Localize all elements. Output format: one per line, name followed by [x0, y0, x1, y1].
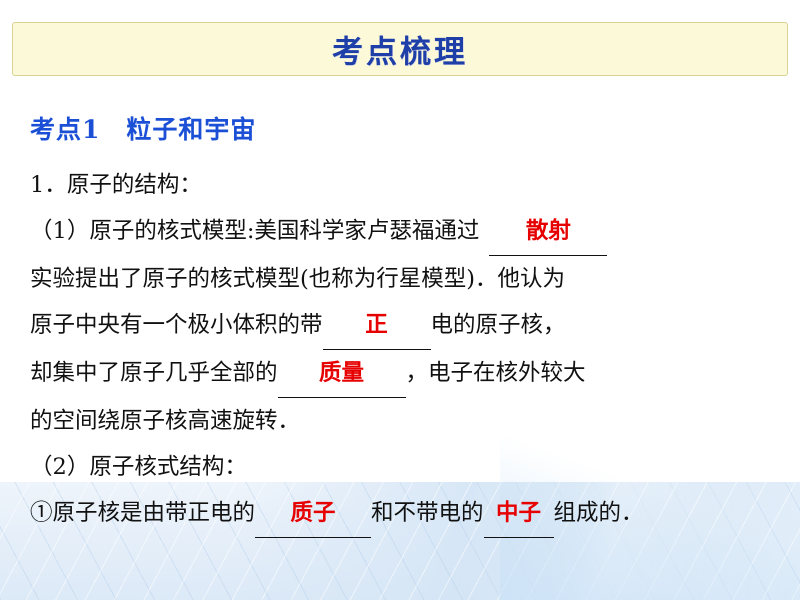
section-heading: 考点1粒子和宇宙	[30, 110, 780, 146]
answer-blank-zhizi: 质子	[255, 490, 371, 538]
paragraph-line-4: 却集中了原子几乎全部的质量，电子在核外较大	[30, 350, 780, 398]
slide-content: 考点1粒子和宇宙 1．原子的结构： （1）原子的核式模型:美国科学家卢瑟福通过散…	[30, 110, 780, 538]
line-3-text-b: 电的原子核，	[431, 312, 566, 338]
line-1-text-a: （1）原子的核式模型:美国科学家卢瑟福通过	[30, 218, 479, 244]
answer-blank-zheng: 正	[323, 302, 431, 350]
line-4-text-b: ，电子在核外较大	[406, 360, 586, 386]
item-2-heading: （2）原子核式结构：	[30, 444, 780, 490]
page-title: 考点梳理	[13, 27, 787, 72]
answer-blank-sanshe: 散射	[489, 208, 607, 256]
item-1-heading: 1．原子的结构：	[30, 162, 780, 208]
line-6-text-a: ①原子核是由带正电的	[30, 500, 255, 526]
answer-blank-zhiliang: 质量	[278, 350, 406, 398]
section-title: 粒子和宇宙	[126, 115, 256, 144]
paragraph-line-1: （1）原子的核式模型:美国科学家卢瑟福通过散射	[30, 208, 780, 256]
title-banner: 考点梳理	[12, 22, 788, 76]
paragraph-line-5: 的空间绕原子核高速旋转．	[30, 398, 780, 444]
line-4-text-a: 却集中了原子几乎全部的	[30, 360, 278, 386]
paragraph-line-3: 原子中央有一个极小体积的带正电的原子核，	[30, 302, 780, 350]
line-3-text-a: 原子中央有一个极小体积的带	[30, 312, 323, 338]
line-6-text-c: 组成的．	[554, 500, 644, 526]
answer-blank-zhongzi: 中子	[484, 490, 554, 538]
line-6-text-b: 和不带电的	[371, 500, 484, 526]
paragraph-line-6: ①原子核是由带正电的质子和不带电的中子组成的．	[30, 490, 780, 538]
section-label: 考点1	[30, 115, 100, 144]
paragraph-line-2: 实验提出了原子的核式模型(也称为行星模型)．他认为	[30, 256, 780, 302]
